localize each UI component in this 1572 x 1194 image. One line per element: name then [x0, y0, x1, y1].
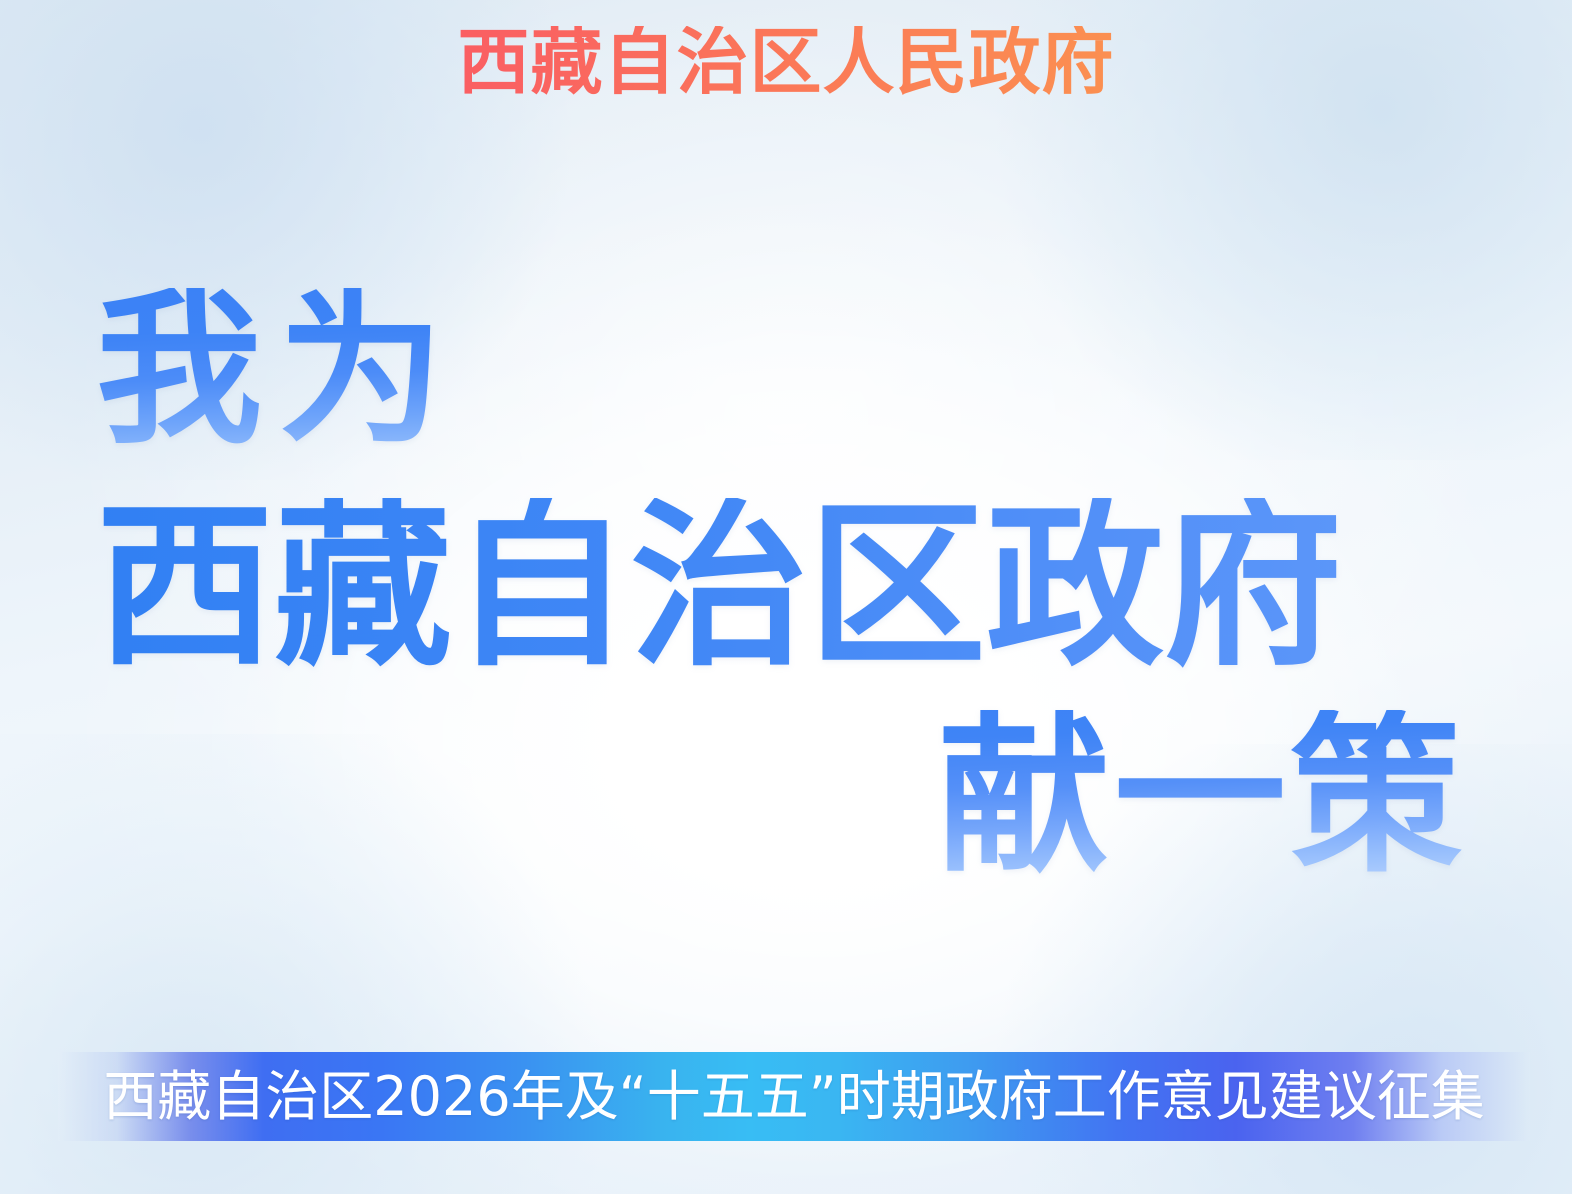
- poster-root: 西藏自治区人民政府 我为 西藏自治区政府 献一策 西藏自治区2026年及“十五五…: [0, 0, 1572, 1194]
- headline-line-2: 西藏自治区政府: [96, 498, 1472, 676]
- campaign-banner: 西藏自治区2026年及“十五五”时期政府工作意见建议征集: [58, 1052, 1530, 1141]
- agency-title: 西藏自治区人民政府: [0, 26, 1572, 98]
- headline-line-1: 我为: [96, 288, 1472, 454]
- headline-line-3: 献一策: [96, 710, 1472, 882]
- campaign-banner-text: 西藏自治区2026年及“十五五”时期政府工作意见建议征集: [103, 1070, 1484, 1124]
- headline-block: 我为 西藏自治区政府 献一策: [0, 288, 1572, 882]
